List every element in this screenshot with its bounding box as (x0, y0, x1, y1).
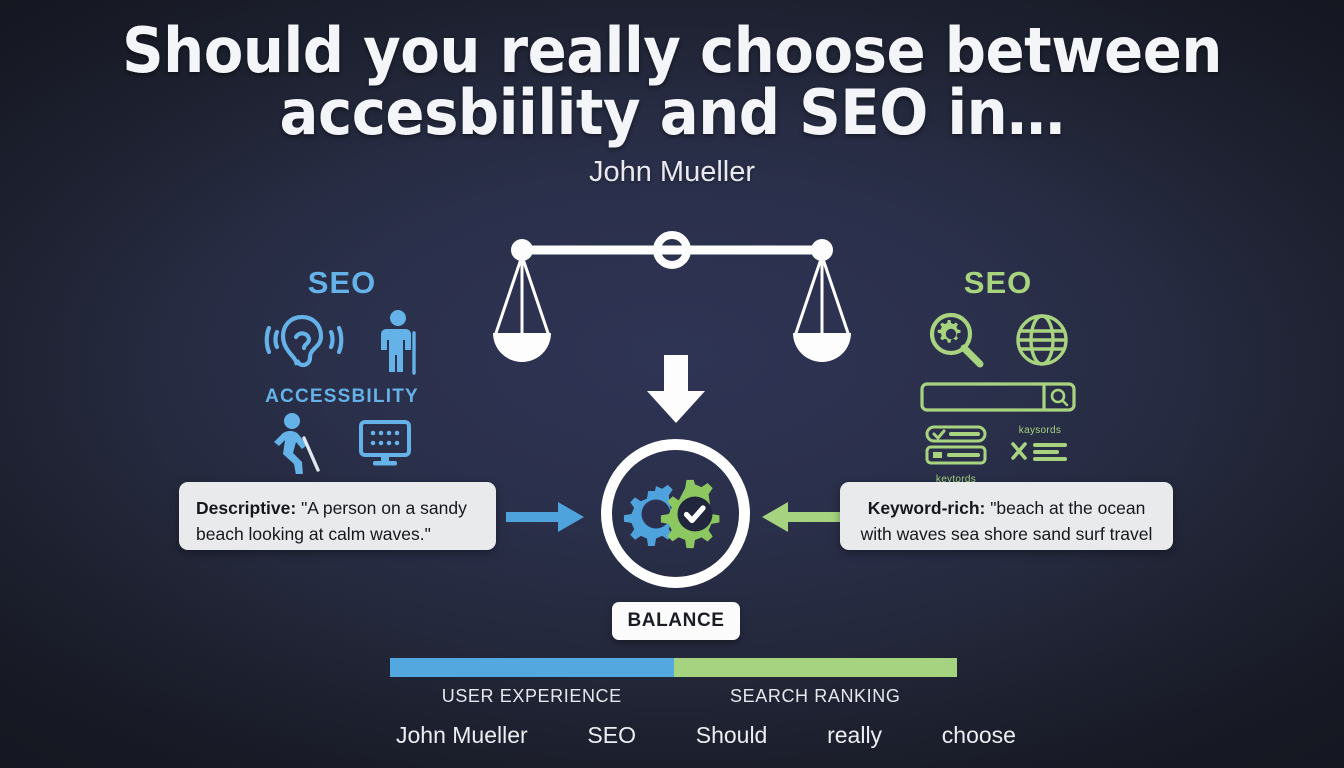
keyword-tag: really (827, 722, 882, 749)
search-bar-wrap (878, 382, 1118, 417)
accessibility-icon-row-top (222, 309, 462, 380)
slide-canvas: Should you really choose between accesbi… (0, 0, 1344, 768)
keyword-list-icon (925, 425, 987, 472)
seo-panel-heading: SEO (878, 265, 1118, 301)
keyword-list-group: keytords (925, 425, 987, 485)
accessibility-panel-heading: SEO (222, 265, 462, 301)
gears-check-icon (598, 436, 753, 591)
balance-badge: BALANCE (612, 602, 740, 640)
accessibility-panel: SEO (222, 265, 462, 479)
meter-label-search-ranking: SEARCH RANKING (674, 686, 958, 707)
keyword-rank-icon (1009, 438, 1071, 469)
seo-icon-row-top (878, 309, 1118, 376)
keyword-tag-row: John Mueller SEO Should really choose (396, 722, 1016, 749)
descriptive-callout: Descriptive: "A person on a sandy beach … (179, 482, 496, 550)
page-subtitle: John Mueller (0, 156, 1344, 189)
descriptive-callout-lead: Descriptive: (196, 498, 296, 518)
meter-segment-search-ranking (674, 658, 958, 677)
ear-hearing-icon (261, 311, 347, 378)
arrow-left-icon (762, 500, 840, 534)
meter-label-user-experience: USER EXPERIENCE (390, 686, 674, 707)
balance-meter (390, 658, 957, 677)
magnifier-gear-icon (925, 309, 987, 376)
search-bar-icon[interactable] (920, 382, 1076, 417)
meter-segment-user-experience (390, 658, 674, 677)
keyword-tag: John Mueller (396, 722, 528, 749)
keyword-rank-label: kaysords (1019, 425, 1061, 436)
arrow-right-icon (506, 500, 584, 534)
keyword-tag: SEO (587, 722, 636, 749)
meter-label-row: USER EXPERIENCE SEARCH RANKING (390, 686, 957, 707)
keyword-rich-callout: Keyword-rich: "beach at the ocean with w… (840, 482, 1173, 550)
seo-panel: SEO (878, 265, 1118, 485)
arrow-down-icon (645, 355, 707, 425)
keyword-tag: Should (696, 722, 768, 749)
walking-person-cane-icon (272, 412, 324, 479)
person-with-cane-icon (373, 309, 423, 380)
keyword-tag: choose (942, 722, 1016, 749)
keyword-rich-callout-lead: Keyword-rich: (868, 498, 986, 518)
keyword-rank-group: kaysords (1009, 425, 1071, 469)
accessibility-icon-row-bottom (222, 412, 462, 479)
seo-icon-row-bottom: keytords kaysords (878, 425, 1118, 485)
globe-icon (1013, 311, 1071, 374)
page-title: Should you really choose between accesbi… (103, 20, 1241, 144)
accessibility-panel-label: ACCESSBILITY (222, 386, 462, 408)
balance-scale-icon (492, 228, 852, 373)
braille-monitor-icon (358, 419, 412, 472)
